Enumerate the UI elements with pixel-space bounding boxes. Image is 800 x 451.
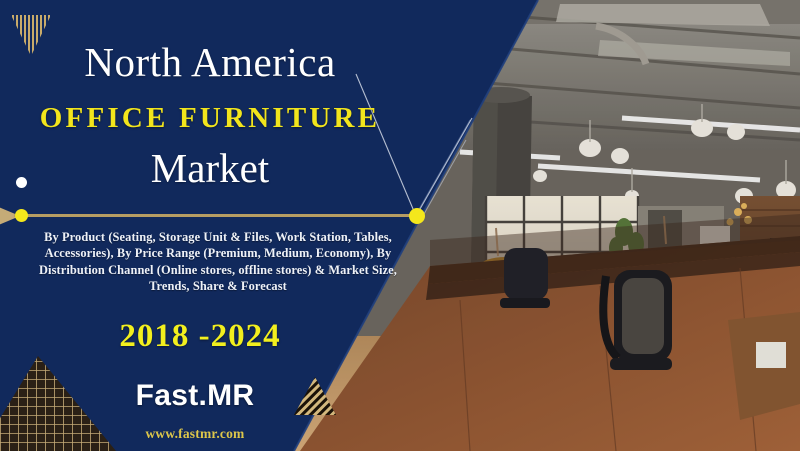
yellow-node-dot-right-icon [409, 208, 425, 224]
category-title: OFFICE FURNITURE [0, 104, 420, 133]
market-word: Market [0, 148, 420, 189]
website-url[interactable]: www.fastmr.com [0, 426, 390, 442]
brand-logo: Fast.MR [0, 379, 390, 413]
region-title: North America [0, 42, 420, 83]
banner-text-content: North America OFFICE FURNITURE Market By… [0, 0, 440, 451]
report-scope-subtitle: By Product (Seating, Storage Unit & File… [22, 229, 414, 295]
market-report-banner: North America OFFICE FURNITURE Market By… [0, 0, 800, 451]
forecast-period: 2018 -2024 [0, 318, 400, 355]
